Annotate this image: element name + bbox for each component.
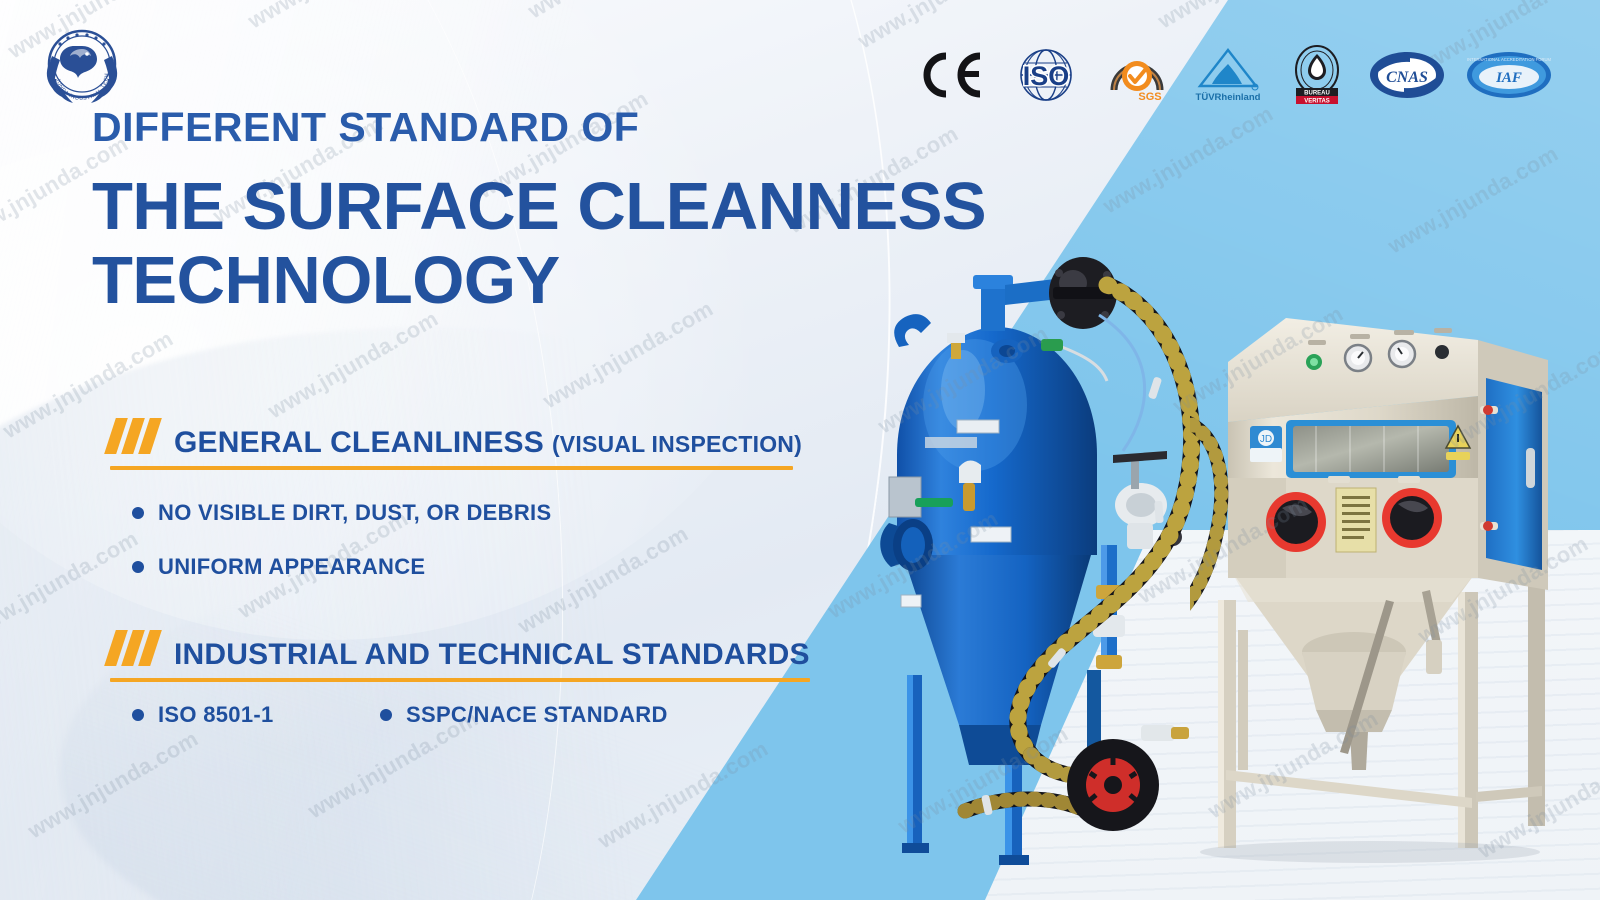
orange-accent-bars-standards: [110, 630, 156, 666]
tuv-rheinland-mark-icon: TÜVRheinland: [1188, 46, 1268, 104]
certification-badges: ISO SGS TÜVRheinland: [916, 44, 1552, 106]
svg-text:JD: JD: [1260, 434, 1272, 445]
sandblasting-pressure-pot: [855, 255, 1215, 865]
ce-mark-icon: [916, 50, 988, 100]
section-subtitle-general: (VISUAL INSPECTION): [552, 431, 802, 458]
section-title-general: GENERAL CLEANLINESS: [174, 428, 544, 458]
orange-accent-bars-general: [110, 418, 156, 454]
bullet-label: ISO 8501-1: [158, 702, 274, 728]
bullet-list-general: NO VISIBLE DIRT, DUST, OR DEBRIS UNIFORM…: [132, 500, 551, 608]
bullet-dot-icon: [380, 709, 392, 721]
iso-mark-icon: ISO: [1006, 46, 1086, 104]
sandblasting-cabinet: JD: [1190, 300, 1570, 865]
headline-block: DIFFERENT STANDARD OF THE SURFACE CLEANN…: [92, 106, 1052, 318]
svg-text:TÜVRheinland: TÜVRheinland: [1196, 92, 1261, 103]
svg-text:SGS: SGS: [1138, 91, 1161, 103]
svg-text:CNAS: CNAS: [1386, 69, 1428, 86]
svg-text:INTERNATIONAL ACCREDITATION FO: INTERNATIONAL ACCREDITATION FORUM: [1467, 57, 1552, 62]
svg-text:IAF: IAF: [1495, 70, 1522, 86]
bullet-label: SSPC/NACE STANDARD: [406, 702, 668, 728]
section-title-standards: INDUSTRIAL AND TECHNICAL STANDARDS: [174, 640, 810, 670]
iaf-mark-icon: IAF INTERNATIONAL ACCREDITATION FORUM: [1466, 50, 1552, 100]
section-general-cleanliness: GENERAL CLEANLINESS (VISUAL INSPECTION): [110, 418, 802, 470]
list-item: SSPC/NACE STANDARD: [380, 702, 668, 728]
sgs-mark-icon: SGS: [1104, 46, 1170, 104]
section-underline-general: [110, 466, 793, 470]
list-item: UNIFORM APPEARANCE: [132, 554, 551, 580]
bullet-dot-icon: [132, 561, 144, 573]
list-item: ISO 8501-1: [132, 702, 380, 728]
cnas-mark-icon: CNAS: [1366, 49, 1448, 101]
promo-banner: JD: [0, 0, 1600, 900]
section-industrial-standards: INDUSTRIAL AND TECHNICAL STANDARDS: [110, 630, 810, 682]
svg-text:BUREAU: BUREAU: [1304, 91, 1330, 97]
headline-title-line2: TECHNOLOGY: [92, 245, 1052, 317]
company-logo: JUNDA INDUSTRIAL TECHNOLOGY: [30, 22, 134, 110]
section-underline-standards: [110, 678, 810, 682]
bullet-dot-icon: [132, 507, 144, 519]
svg-text:VERITAS: VERITAS: [1304, 99, 1330, 105]
headline-kicker: DIFFERENT STANDARD OF: [92, 106, 1052, 149]
headline-title-line1: THE SURFACE CLEANNESS: [92, 171, 1052, 243]
svg-text:ISO: ISO: [1023, 61, 1070, 91]
bullet-list-standards: ISO 8501-1 SSPC/NACE STANDARD: [132, 702, 668, 728]
list-item: NO VISIBLE DIRT, DUST, OR DEBRIS: [132, 500, 551, 526]
bureau-veritas-mark-icon: BUREAU VERITAS: [1286, 44, 1348, 106]
bullet-label: UNIFORM APPEARANCE: [158, 554, 425, 580]
bullet-label: NO VISIBLE DIRT, DUST, OR DEBRIS: [158, 500, 551, 526]
bullet-dot-icon: [132, 709, 144, 721]
